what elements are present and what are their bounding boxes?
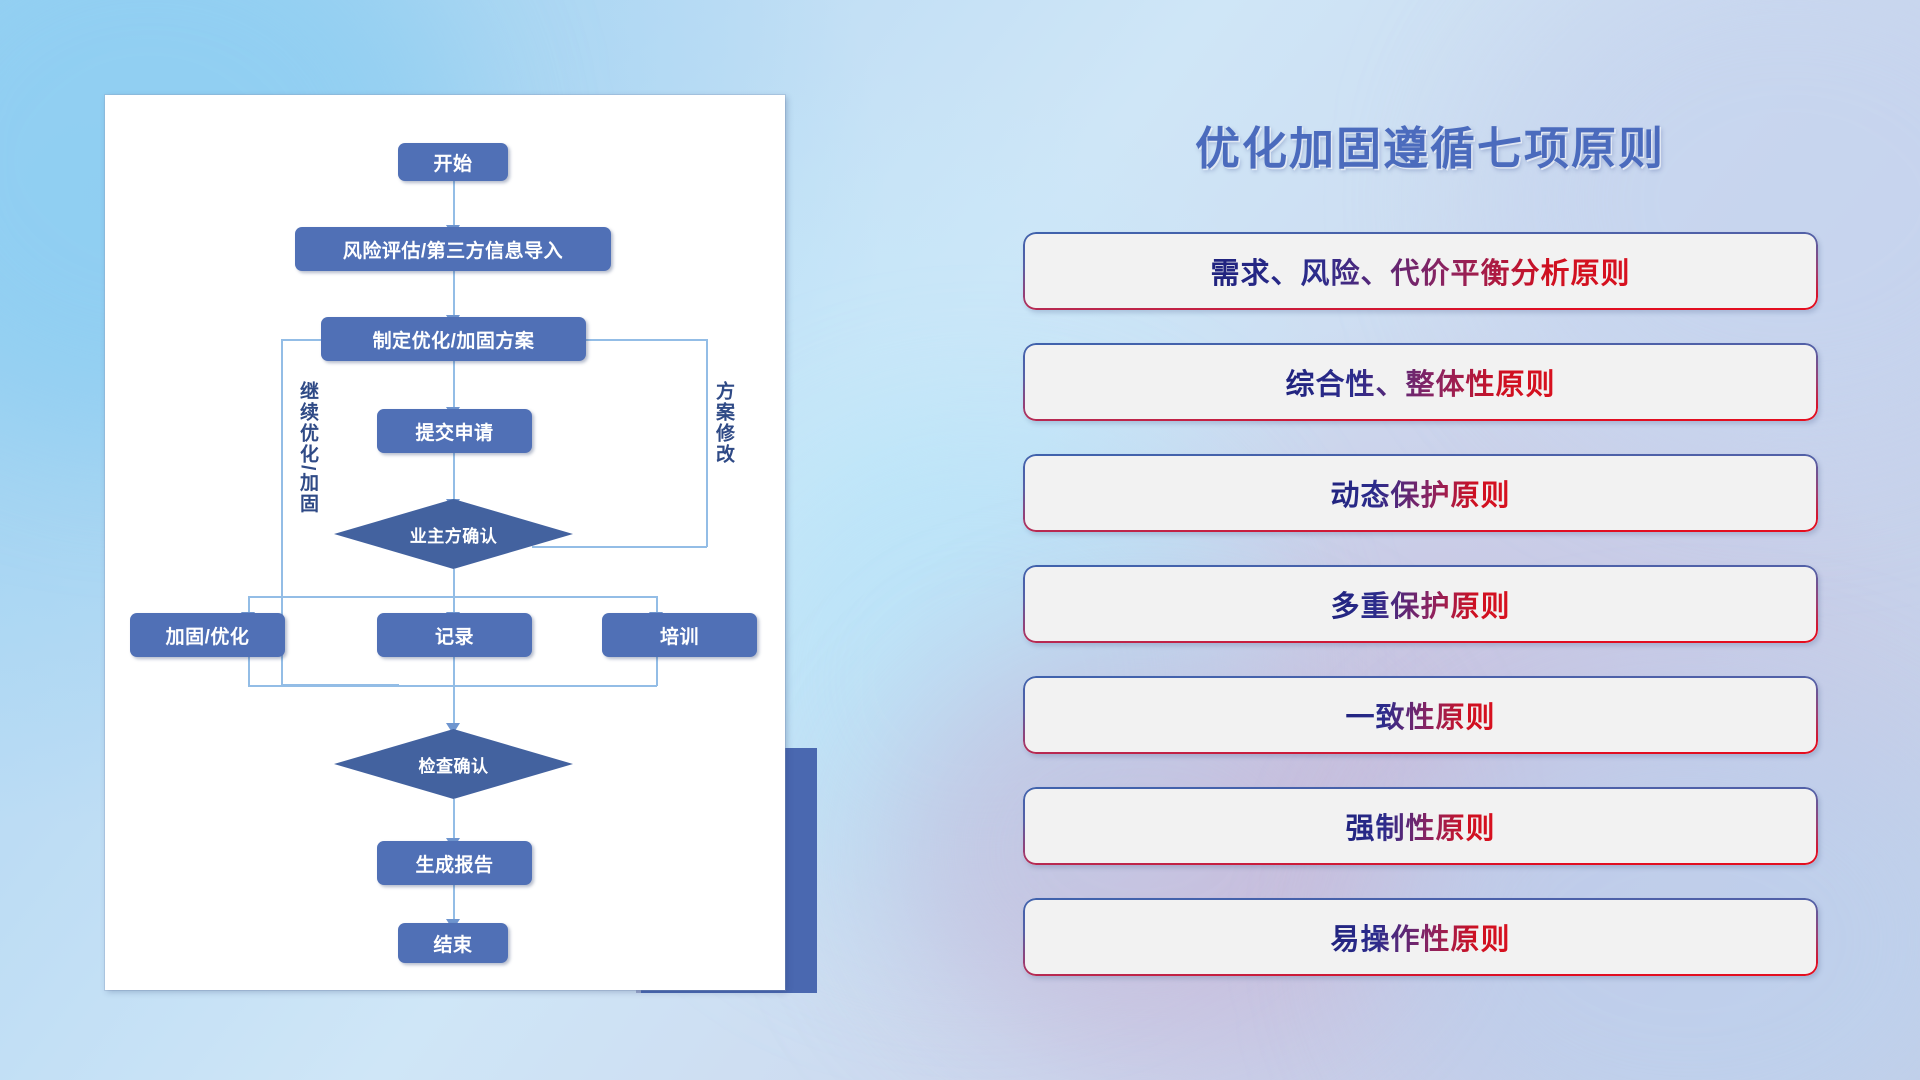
flow-node-risk-assessment[interactable]: 风险评估/第三方信息导入	[295, 227, 611, 271]
edge-reinforce-down	[248, 657, 250, 686]
principle-card-6-label: 强制性原则	[1345, 805, 1495, 847]
flow-node-submit-label: 提交申请	[415, 418, 493, 445]
edge-label-plan-revision: 方案修改	[713, 381, 733, 465]
principle-card-2-label: 综合性、整体性原则	[1285, 361, 1555, 403]
flow-node-start[interactable]: 开始	[398, 143, 508, 181]
edge-report-to-end	[453, 885, 455, 923]
principle-card-5-label: 一致性原则	[1345, 694, 1495, 736]
flow-node-submit[interactable]: 提交申请	[377, 409, 532, 453]
flowchart-card: 开始 风险评估/第三方信息导入 制定优化/加固方案 提交申请 业主方确认 加固/…	[105, 95, 785, 990]
principle-card-1-label: 需求、风险、代价平衡分析原则	[1210, 250, 1630, 292]
flow-node-check-confirm[interactable]: 检查确认	[334, 729, 573, 799]
principle-card-7-label: 易操作性原则	[1330, 916, 1510, 958]
principle-card-2[interactable]: 综合性、整体性原则	[1023, 343, 1818, 421]
flow-node-report[interactable]: 生成报告	[377, 841, 532, 885]
edge-plan-to-submit	[453, 361, 455, 409]
principles-panel-title: 优化加固遵循七项原则	[1010, 112, 1850, 177]
edge-owner-down	[453, 569, 455, 597]
principle-card-4-label: 多重保护原则	[1330, 583, 1510, 625]
edge-train-down	[656, 657, 658, 686]
flow-node-plan[interactable]: 制定优化/加固方案	[321, 317, 586, 361]
principle-card-3[interactable]: 动态保护原则	[1023, 454, 1818, 532]
principle-card-4[interactable]: 多重保护原则	[1023, 565, 1818, 643]
principle-card-3-label: 动态保护原则	[1330, 472, 1510, 514]
principles-card-list: 需求、风险、代价平衡分析原则 综合性、整体性原则 动态保护原则 多重保护原则 一…	[1023, 232, 1823, 1009]
edge-submit-to-owner	[453, 453, 455, 501]
flow-node-start-label: 开始	[433, 149, 472, 176]
flow-node-check-confirm-label: 检查确认	[419, 752, 489, 777]
flow-node-risk-assessment-label: 风险评估/第三方信息导入	[343, 236, 563, 263]
principle-card-7[interactable]: 易操作性原则	[1023, 898, 1818, 976]
principle-card-6[interactable]: 强制性原则	[1023, 787, 1818, 865]
edge-start-to-risk	[453, 180, 455, 227]
edge-record-down	[453, 657, 455, 727]
edge-risk-to-plan	[453, 271, 455, 317]
flow-node-end[interactable]: 结束	[398, 923, 508, 963]
flow-node-record-label: 记录	[435, 622, 474, 649]
flow-node-owner-confirm-label: 业主方确认	[410, 522, 498, 547]
flow-node-end-label: 结束	[433, 930, 472, 957]
flow-node-reinforce[interactable]: 加固/优化	[130, 613, 285, 657]
flow-node-report-label: 生成报告	[415, 850, 493, 877]
flowchart-diagram: 开始 风险评估/第三方信息导入 制定优化/加固方案 提交申请 业主方确认 加固/…	[105, 95, 785, 990]
edge-check-to-report	[453, 799, 455, 841]
edge-owner-right-v	[706, 339, 708, 547]
edge-label-continue-optimize: 继续优化/加固	[297, 381, 317, 514]
flow-node-reinforce-label: 加固/优化	[166, 622, 250, 649]
flow-node-record[interactable]: 记录	[377, 613, 532, 657]
flow-node-training-label: 培训	[660, 622, 699, 649]
flow-node-owner-confirm[interactable]: 业主方确认	[334, 499, 573, 569]
flow-node-training[interactable]: 培训	[602, 613, 757, 657]
principle-card-5[interactable]: 一致性原则	[1023, 676, 1818, 754]
slide-canvas: 开始 风险评估/第三方信息导入 制定优化/加固方案 提交申请 业主方确认 加固/…	[0, 0, 1920, 1080]
flow-node-plan-label: 制定优化/加固方案	[373, 326, 535, 353]
principle-card-1[interactable]: 需求、风险、代价平衡分析原则	[1023, 232, 1818, 310]
